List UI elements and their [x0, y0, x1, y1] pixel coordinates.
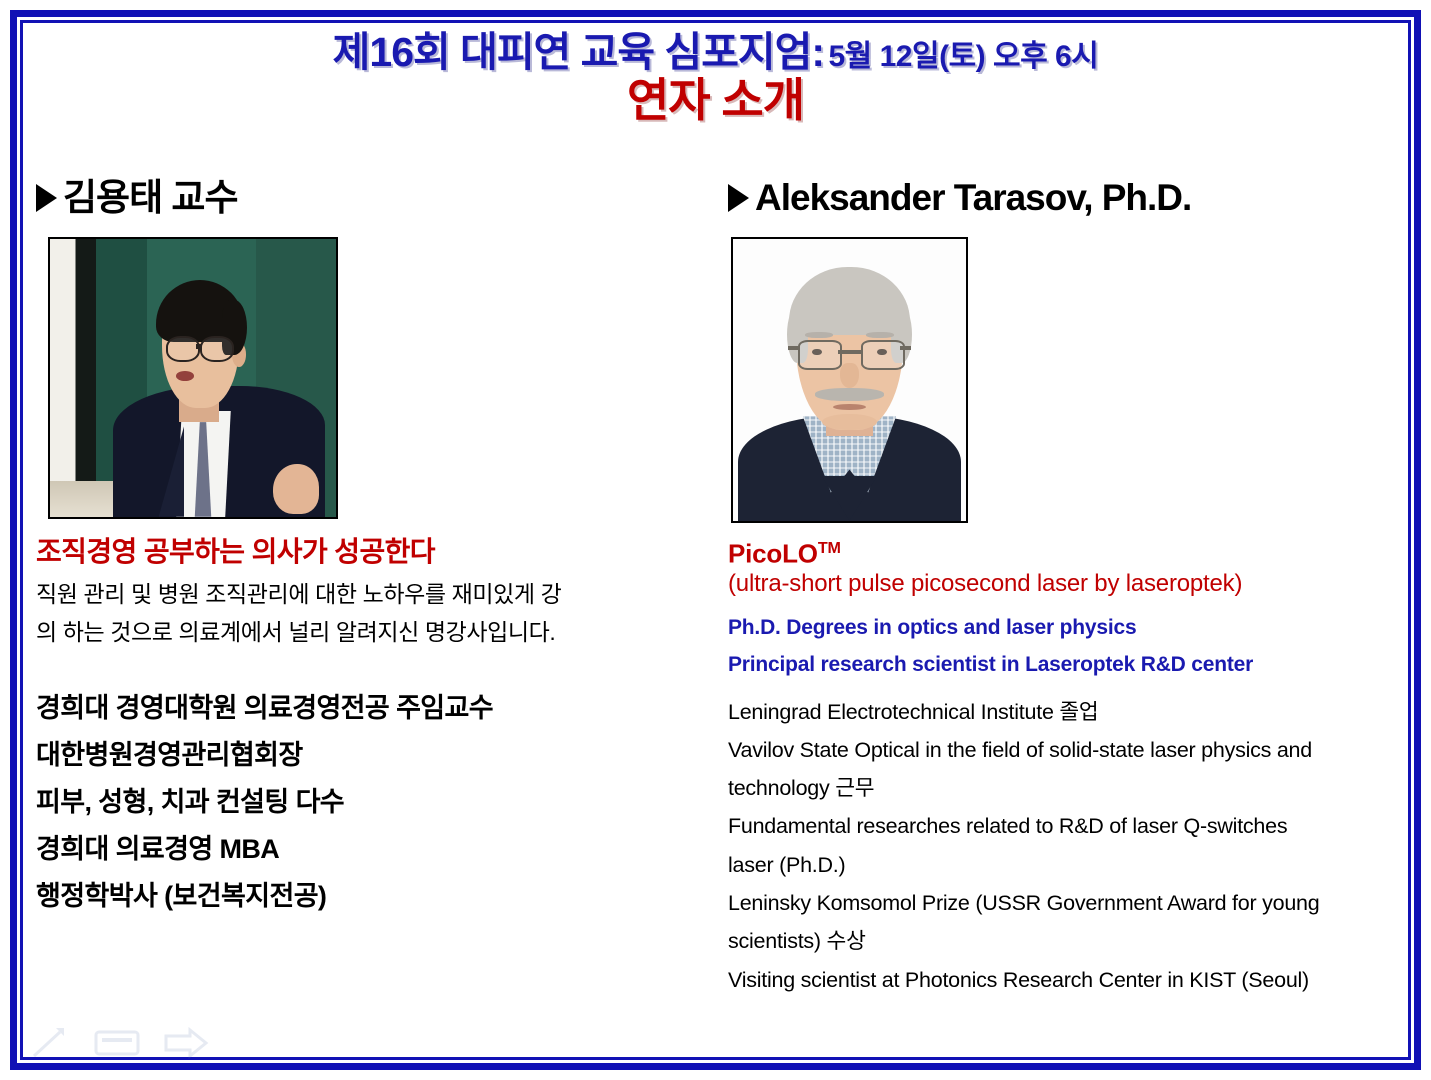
cv-line: Visiting scientist at Photonics Research…	[728, 961, 1418, 999]
lecture-title-left: 조직경영 공부하는 의사가 성공한다	[36, 535, 696, 569]
photo-hand	[273, 464, 319, 514]
photo-mustache	[815, 388, 885, 401]
cv-item: 경희대 경영대학원 의료경영전공 주임교수	[36, 685, 696, 732]
speaker-right-photo	[731, 237, 968, 523]
photo-eyeglass-bridge	[196, 344, 202, 348]
photo-eyeglass-right	[861, 340, 905, 369]
photo-nose	[840, 363, 859, 388]
highlight-line: Ph.D. Degrees in optics and laser physic…	[728, 612, 1418, 644]
speaker-left-description: 직원 관리 및 병원 조직관리에 대한 노하우를 재미있게 강 의 하는 것으로…	[36, 576, 681, 651]
photo-eyeglass-right	[200, 336, 234, 362]
description-line: 의 하는 것으로 의료계에서 널리 알려지신 명강사입니다.	[36, 614, 681, 651]
cv-line: Leningrad Electrotechnical Institute 졸업	[728, 693, 1418, 731]
highlight-line: Principal research scientist in Laseropt…	[728, 649, 1418, 681]
speaker-left-name: 김용태 교수	[63, 178, 237, 219]
product-name-text: PicoLO	[728, 538, 818, 568]
cv-item: 대한병원경영관리협회장	[36, 732, 696, 779]
cv-item: 경희대 의료경영 MBA	[36, 826, 696, 873]
speaker-left-cv-list: 경희대 경영대학원 의료경영전공 주임교수 대한병원경영관리협회장 피부, 성형…	[36, 685, 696, 920]
cv-line: scientists) 수상	[728, 922, 1418, 960]
symposium-date: 5월 12일(토) 오후 6시	[828, 40, 1098, 73]
cv-line: Vavilov State Optical in the field of so…	[728, 731, 1418, 769]
photo-eyebrow-left	[805, 332, 833, 338]
cv-line: technology 근무	[728, 769, 1418, 807]
cv-line: laser (Ph.D.)	[728, 846, 1418, 884]
speaker-left-heading: 김용태 교수	[36, 178, 696, 219]
description-line: 직원 관리 및 병원 조직관리에 대한 노하우를 재미있게 강	[36, 576, 681, 613]
photo-eyebrow-right	[866, 332, 894, 338]
speaker-column-left: 김용태 교수 조직경영 공부하는 의사가 성공한다 직원 관리 및 병원 조직관…	[36, 178, 696, 920]
cv-line: Leninsky Komsomol Prize (USSR Government…	[728, 884, 1418, 922]
cv-line: Fundamental researches related to R&D of…	[728, 807, 1418, 845]
photo-mouth	[176, 371, 195, 381]
product-subtitle: (ultra-short pulse picosecond laser by l…	[728, 568, 1418, 599]
slide-canvas: 제16회 대피연 교육 심포지엄: 5월 12일(토) 오후 6시 연자 소개 …	[0, 0, 1431, 1080]
speaker-right-heading: Aleksander Tarasov, Ph.D.	[728, 178, 1418, 219]
speaker-right-cv-list: Leningrad Electrotechnical Institute 졸업 …	[728, 693, 1418, 999]
photo-eyeglass-bridge	[838, 350, 861, 354]
slide-title-block: 제16회 대피연 교육 심포지엄: 5월 12일(토) 오후 6시 연자 소개	[0, 30, 1431, 125]
speaker-column-right: Aleksander Tarasov, Ph.D.	[728, 178, 1418, 999]
cv-item: 행정학박사 (보건복지전공)	[36, 873, 696, 920]
cv-item: 피부, 성형, 치과 컨설팅 다수	[36, 779, 696, 826]
photo-eyeglass-arm-left	[788, 346, 800, 350]
triangle-right-icon	[36, 184, 57, 212]
title-line-1: 제16회 대피연 교육 심포지엄: 5월 12일(토) 오후 6시	[0, 30, 1431, 74]
photo-eyeglass-left	[166, 336, 200, 362]
speaker-right-name: Aleksander Tarasov, Ph.D.	[755, 178, 1191, 219]
photo-mouth	[833, 404, 866, 410]
symposium-title: 제16회 대피연 교육 심포지엄:	[333, 29, 824, 75]
trademark-mark: TM	[818, 539, 841, 557]
product-name: PicoLOTM	[728, 539, 1418, 569]
triangle-right-icon	[728, 184, 749, 212]
photo-eyeglass-left	[798, 340, 842, 369]
page-title: 연자 소개	[0, 76, 1431, 124]
speaker-left-photo	[48, 237, 338, 519]
photo-eyeglass-arm-right	[900, 346, 912, 350]
